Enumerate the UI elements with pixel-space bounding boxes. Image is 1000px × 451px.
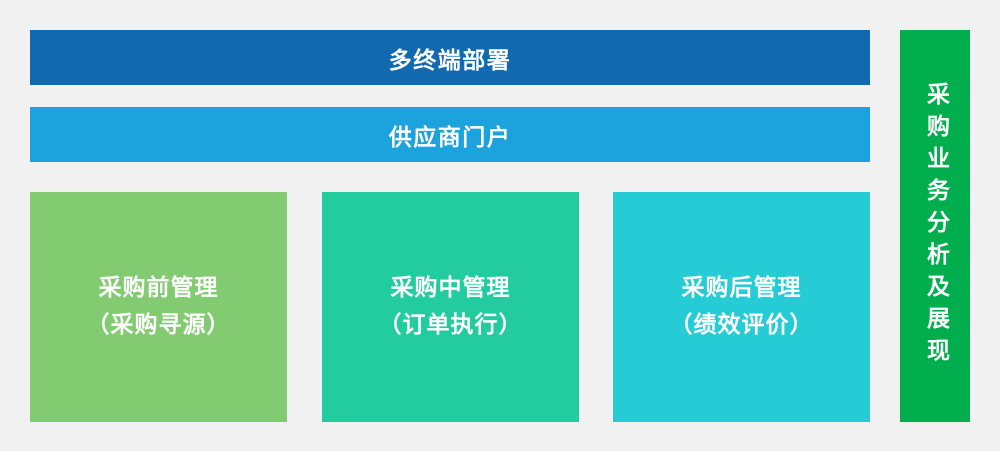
procurement-architecture-diagram: 多终端部署 供应商门户 采购前管理 （采购寻源） 采购中管理 （订单执行） 采购…: [0, 0, 1000, 451]
stage-box-pre-procurement-title: 采购前管理: [99, 270, 219, 307]
band-procurement-analysis: 采购业务分析及展现: [900, 30, 970, 422]
stage-box-post-procurement-title: 采购后管理: [682, 270, 802, 307]
band-multi-terminal-deployment-label: 多终端部署: [389, 41, 512, 75]
stage-box-in-procurement-subtitle: （订单执行）: [379, 307, 523, 344]
band-multi-terminal-deployment: 多终端部署: [30, 30, 870, 85]
band-supplier-portal-label: 供应商门户: [389, 118, 512, 152]
stage-box-in-procurement: 采购中管理 （订单执行）: [322, 192, 579, 422]
band-supplier-portal: 供应商门户: [30, 107, 870, 162]
stage-box-post-procurement-subtitle: （绩效评价）: [670, 307, 814, 344]
stage-box-pre-procurement: 采购前管理 （采购寻源）: [30, 192, 287, 422]
band-procurement-analysis-label: 采购业务分析及展现: [924, 82, 947, 370]
stage-box-pre-procurement-subtitle: （采购寻源）: [87, 307, 231, 344]
stage-box-post-procurement: 采购后管理 （绩效评价）: [613, 192, 870, 422]
stage-box-in-procurement-title: 采购中管理: [391, 270, 511, 307]
